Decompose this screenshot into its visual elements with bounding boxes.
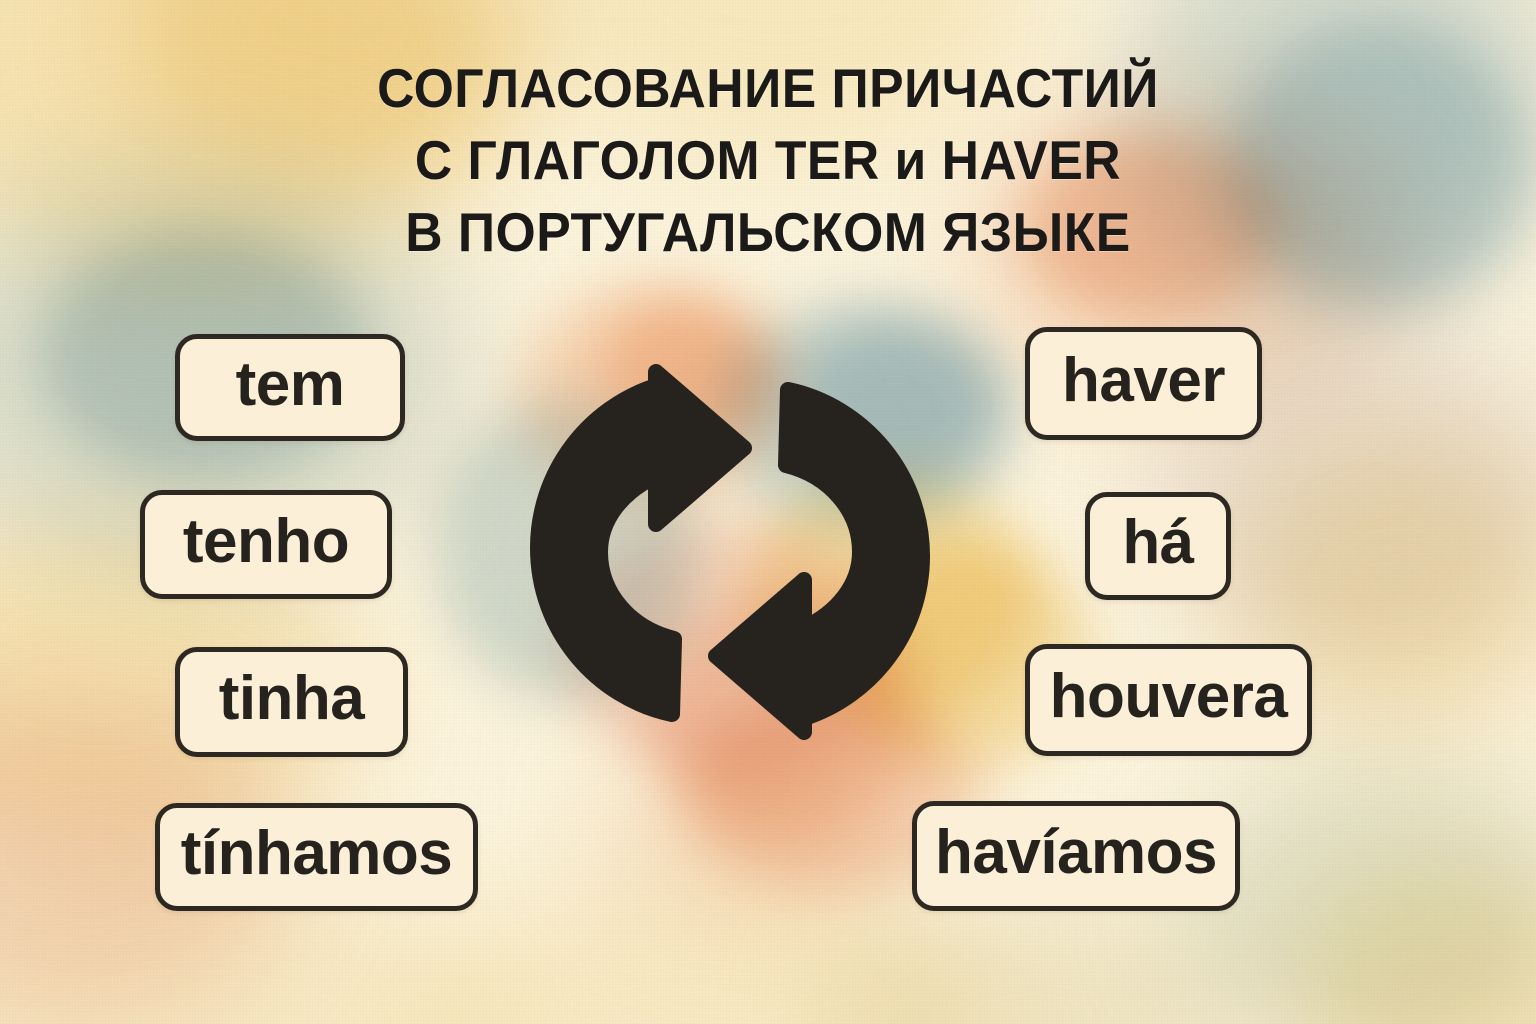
- word-label: haver: [1062, 350, 1225, 418]
- word-label: há: [1122, 512, 1193, 580]
- title-line-1: СОГЛАСОВАНИЕ ПРИЧАСТИЙ: [46, 52, 1490, 124]
- word-label: tínhamos: [181, 823, 453, 891]
- word-box-haviamos[interactable]: havíamos: [912, 801, 1240, 911]
- word-label: tem: [236, 354, 345, 422]
- word-label: havíamos: [935, 822, 1217, 890]
- word-box-ha[interactable]: há: [1085, 492, 1231, 600]
- word-label: tenho: [183, 511, 349, 579]
- word-box-houvera[interactable]: houvera: [1025, 644, 1312, 756]
- word-box-tinhamos[interactable]: tínhamos: [155, 803, 478, 911]
- word-label: tinha: [219, 668, 365, 736]
- title-line-2: С ГЛАГОЛОМ TER и HAVER: [46, 124, 1490, 196]
- title-line-3: В ПОРТУГАЛЬСКОМ ЯЗЫКЕ: [46, 196, 1490, 268]
- word-box-haver[interactable]: haver: [1025, 327, 1262, 440]
- word-box-tem[interactable]: tem: [175, 334, 405, 441]
- page-title: СОГЛАСОВАНИЕ ПРИЧАСТИЙ С ГЛАГОЛОМ TER и …: [0, 52, 1536, 268]
- cycle-arrows-icon: [500, 362, 960, 742]
- word-label: houvera: [1050, 666, 1288, 734]
- poster-canvas: СОГЛАСОВАНИЕ ПРИЧАСТИЙ С ГЛАГОЛОМ TER и …: [0, 0, 1536, 1024]
- word-box-tenho[interactable]: tenho: [140, 490, 392, 599]
- word-box-tinha[interactable]: tinha: [175, 647, 408, 757]
